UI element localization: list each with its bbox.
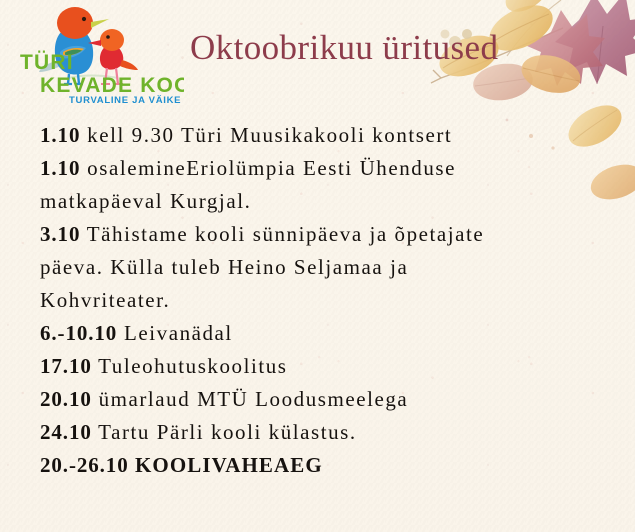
logo-tagline-text: TURVALINE JA VÄIKE bbox=[69, 95, 181, 106]
event-line: Kohvriteater. bbox=[40, 284, 605, 317]
event-list: 1.10 kell 9.30 Türi Muusikakooli kontser… bbox=[40, 119, 605, 482]
event-text: Leivanädal bbox=[124, 321, 233, 345]
event-line: 1.10 kell 9.30 Türi Muusikakooli kontser… bbox=[40, 119, 605, 152]
event-date: 3.10 bbox=[40, 222, 80, 246]
event-line: 6.-10.10 Leivanädal bbox=[40, 317, 605, 350]
event-line: 24.10 Tartu Pärli kooli külastus. bbox=[40, 416, 605, 449]
event-text: päeva. Külla tuleb Heino Seljamaa ja bbox=[40, 255, 408, 279]
event-line: 3.10 Tähistame kooli sünnipäeva ja õpeta… bbox=[40, 218, 605, 251]
event-date: 20.-26.10 bbox=[40, 453, 129, 477]
event-text: KOOLIVAHEAEG bbox=[135, 453, 323, 477]
event-line: 20.10 ümarlaud MTÜ Loodusmeelega bbox=[40, 383, 605, 416]
logo-line2-text: KEVADE KOOL bbox=[40, 74, 184, 97]
poster-canvas: TÜRI KEVADE KOOL TURVALINE JA VÄIKE Okto… bbox=[0, 0, 635, 532]
event-date: 20.10 bbox=[40, 387, 92, 411]
event-text: Tähistame kooli sünnipäeva ja õpetajate bbox=[87, 222, 485, 246]
logo-line1-text: TÜRI bbox=[20, 51, 74, 74]
event-text: matkapäeval Kurgjal. bbox=[40, 189, 251, 213]
event-line: matkapäeval Kurgjal. bbox=[40, 185, 605, 218]
event-text: Tartu Pärli kooli külastus. bbox=[98, 420, 357, 444]
event-text: Kohvriteater. bbox=[40, 288, 170, 312]
event-text: Tuleohutuskoolitus bbox=[98, 354, 287, 378]
event-text: ümarlaud MTÜ Loodusmeelega bbox=[99, 387, 409, 411]
event-text: osalemineEriolümpia Eesti Ühenduse bbox=[87, 156, 456, 180]
event-text: kell 9.30 Türi Muusikakooli kontsert bbox=[87, 123, 452, 147]
event-line: 20.-26.10 KOOLIVAHEAEG bbox=[40, 449, 605, 482]
event-date: 6.-10.10 bbox=[40, 321, 117, 345]
event-date: 17.10 bbox=[40, 354, 92, 378]
event-date: 1.10 bbox=[40, 156, 80, 180]
event-date: 24.10 bbox=[40, 420, 92, 444]
event-line: 1.10 osalemineEriolümpia Eesti Ühenduse bbox=[40, 152, 605, 185]
event-line: 17.10 Tuleohutuskoolitus bbox=[40, 350, 605, 383]
event-date: 1.10 bbox=[40, 123, 80, 147]
page-title: Oktoobrikuu üritused bbox=[190, 28, 498, 68]
event-line: päeva. Külla tuleb Heino Seljamaa ja bbox=[40, 251, 605, 284]
school-logo: TÜRI KEVADE KOOL TURVALINE JA VÄIKE bbox=[6, 2, 184, 106]
